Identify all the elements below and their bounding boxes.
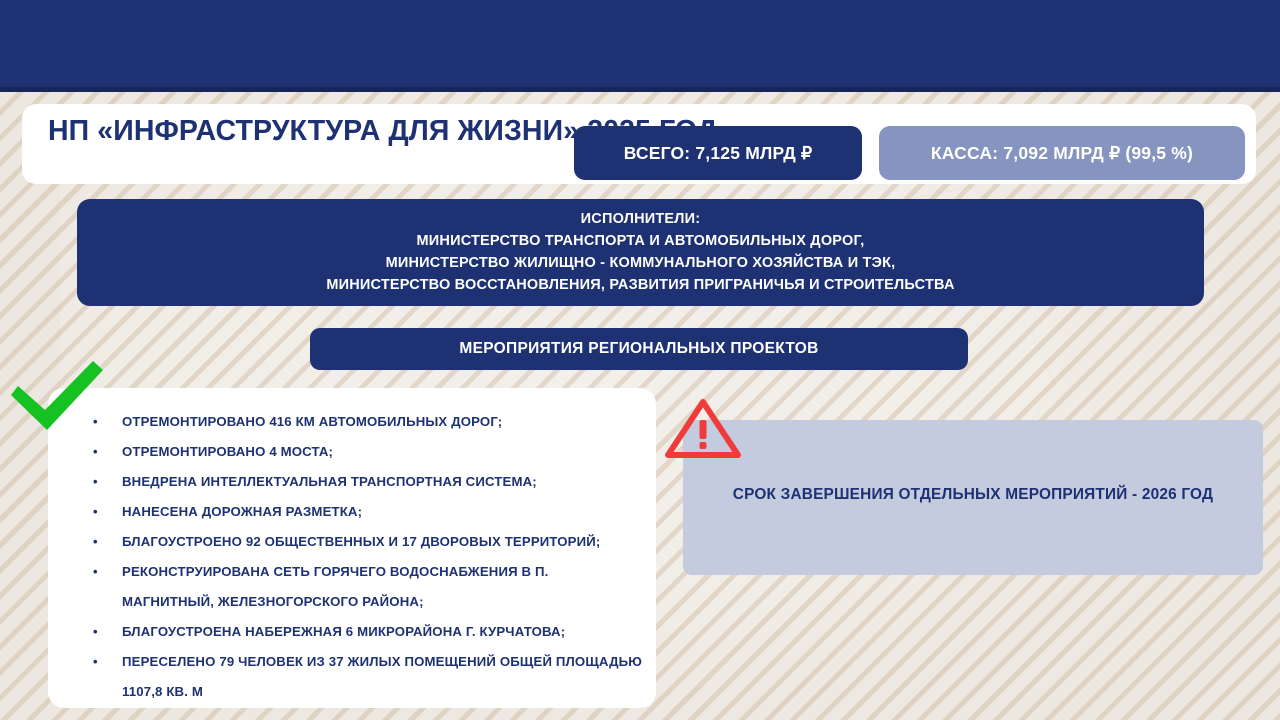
executor-line: МИНИСТЕРСТВО ТРАНСПОРТА И АВТОМОБИЛЬНЫХ … bbox=[77, 230, 1204, 252]
executors-heading: ИСПОЛНИТЕЛИ: bbox=[77, 209, 1204, 230]
budget-total-badge: ВСЕГО: 7,125 МЛРД ₽ bbox=[574, 126, 862, 180]
page-header bbox=[0, 0, 1280, 90]
list-item: ОТРЕМОНТИРОВАНО 4 МОСТА; bbox=[48, 437, 656, 467]
warning-text: СРОК ЗАВЕРШЕНИЯ ОТДЕЛЬНЫХ МЕРОПРИЯТИЙ - … bbox=[683, 486, 1263, 504]
header-underline bbox=[0, 87, 1280, 92]
executor-line: МИНИСТЕРСТВО ЖИЛИЩНО - КОММУНАЛЬНОГО ХОЗ… bbox=[77, 252, 1204, 274]
list-item: БЛАГОУСТРОЕНО 92 ОБЩЕСТВЕННЫХ И 17 ДВОРО… bbox=[48, 527, 656, 557]
list-item: ВНЕДРЕНА ИНТЕЛЛЕКТУАЛЬНАЯ ТРАНСПОРТНАЯ С… bbox=[48, 467, 656, 497]
list-item: РЕКОНСТРУИРОВАНА СЕТЬ ГОРЯЧЕГО ВОДОСНАБЖ… bbox=[48, 557, 656, 617]
budget-cash-badge: КАССА: 7,092 МЛРД ₽ (99,5 %) bbox=[879, 126, 1245, 180]
list-item: НАНЕСЕНА ДОРОЖНАЯ РАЗМЕТКА; bbox=[48, 497, 656, 527]
achievements-list: ОТРЕМОНТИРОВАНО 416 КМ АВТОМОБИЛЬНЫХ ДОР… bbox=[48, 407, 656, 707]
executors-block: ИСПОЛНИТЕЛИ: МИНИСТЕРСТВО ТРАНСПОРТА И А… bbox=[77, 199, 1204, 306]
list-item: ОТРЕМОНТИРОВАНО 416 КМ АВТОМОБИЛЬНЫХ ДОР… bbox=[48, 407, 656, 437]
list-item: ПЕРЕСЕЛЕНО 79 ЧЕЛОВЕК ИЗ 37 ЖИЛЫХ ПОМЕЩЕ… bbox=[48, 647, 656, 707]
achievements-card: ОТРЕМОНТИРОВАНО 416 КМ АВТОМОБИЛЬНЫХ ДОР… bbox=[48, 388, 656, 708]
warning-triangle-icon bbox=[663, 397, 743, 459]
regional-projects-events-banner: МЕРОПРИЯТИЯ РЕГИОНАЛЬНЫХ ПРОЕКТОВ bbox=[310, 328, 968, 370]
green-checkmark-icon bbox=[5, 359, 109, 435]
slide-root: НАЦИОНАЛЬНЫЕ ПРОЕКТЫ РОССИИ МИНИСТЕРСТВО… bbox=[0, 0, 1280, 720]
list-item: БЛАГОУСТРОЕНА НАБЕРЕЖНАЯ 6 МИКРОРАЙОНА Г… bbox=[48, 617, 656, 647]
executor-line: МИНИСТЕРСТВО ВОССТАНОВЛЕНИЯ, РАЗВИТИЯ ПР… bbox=[77, 274, 1204, 296]
